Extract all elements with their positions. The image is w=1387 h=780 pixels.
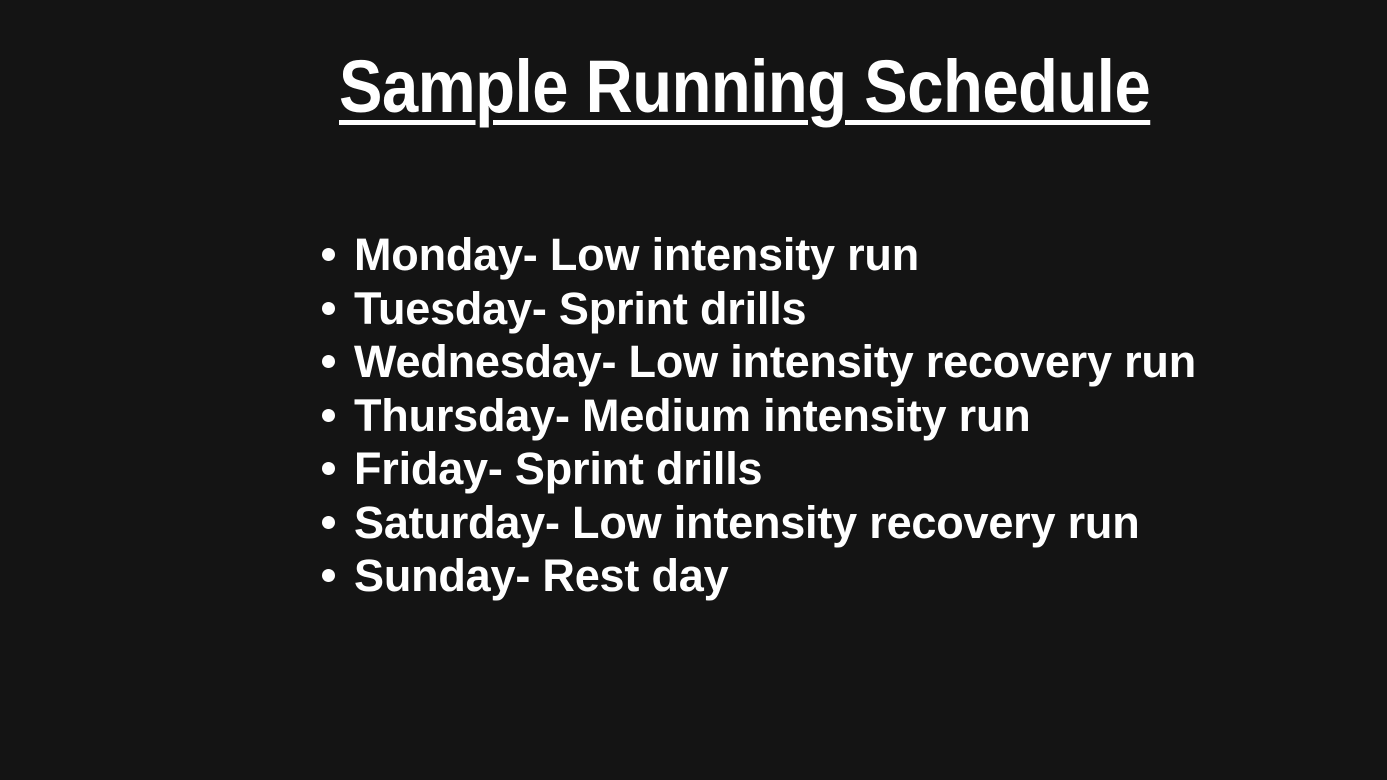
list-item: Saturday- Low intensity recovery run [322,496,1362,550]
bullet-dot-icon [322,409,335,422]
list-item-label: Wednesday- Low intensity recovery run [354,335,1196,389]
page-title: Sample Running Schedule [339,48,1150,126]
list-item: Thursday- Medium intensity run [322,389,1362,443]
bullet-dot-icon [322,355,335,368]
list-item: Tuesday- Sprint drills [322,282,1362,336]
list-item-label: Monday- Low intensity run [354,228,919,282]
list-item-label: Thursday- Medium intensity run [354,389,1031,443]
list-item-label: Saturday- Low intensity recovery run [354,496,1140,550]
list-item: Friday- Sprint drills [322,442,1362,496]
list-item-label: Sunday- Rest day [354,549,728,603]
bullet-dot-icon [322,569,335,582]
bullet-dot-icon [322,462,335,475]
presentation-slide: Sample Running Schedule Monday- Low inte… [0,0,1387,780]
bullet-dot-icon [322,516,335,529]
list-item: Wednesday- Low intensity recovery run [322,335,1362,389]
list-item-label: Friday- Sprint drills [354,442,762,496]
list-item-label: Tuesday- Sprint drills [354,282,806,336]
list-item: Sunday- Rest day [322,549,1362,603]
list-item: Monday- Low intensity run [322,228,1362,282]
bullet-dot-icon [322,302,335,315]
bullet-dot-icon [322,248,335,261]
schedule-list: Monday- Low intensity run Tuesday- Sprin… [322,228,1362,603]
slide-title-container: Sample Running Schedule [0,48,1387,126]
